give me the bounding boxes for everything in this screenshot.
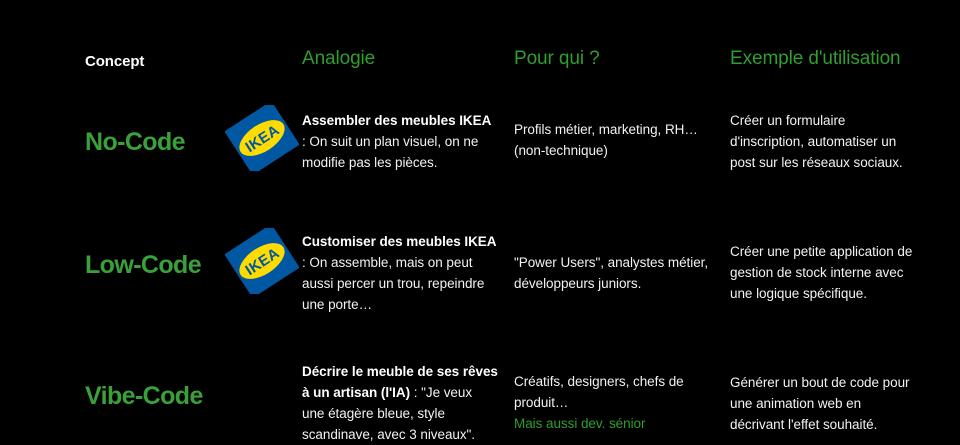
table-row: Low-Code IKEA Customiser des meubles IKE…: [85, 223, 923, 315]
cell-analogie: Customiser des meubles IKEA : On assembl…: [302, 223, 514, 315]
header-cell-analogie: Analogie: [302, 44, 514, 71]
concept-wrapper: Vibe-Code: [85, 354, 302, 438]
pour-qui-main: "Power Users", analystes métier, dévelop…: [514, 255, 708, 291]
pour-qui-text: "Power Users", analystes métier, dévelop…: [514, 223, 730, 294]
analogie-rest: : On assemble, mais on peut aussi percer…: [302, 255, 484, 312]
analogie-rest: : On suit un plan visuel, on ne modifie …: [302, 134, 478, 170]
pour-qui-main: Profils métier, marketing, RH… (non-tech…: [514, 122, 698, 158]
exemple-text: Générer un bout de code pour une animati…: [730, 354, 923, 435]
header-label-concept: Concept: [85, 44, 302, 72]
pour-qui-note: Mais aussi dev. sénior: [514, 413, 710, 434]
header-cell-concept: Concept: [85, 44, 302, 72]
analogie-bold: Customiser des meubles IKEA: [302, 234, 496, 249]
concept-wrapper: Low-Code IKEA: [85, 223, 302, 307]
cell-pour-qui: Profils métier, marketing, RH… (non-tech…: [514, 100, 730, 161]
comparison-grid: Concept Analogie Pour qui ? Exemple d'ut…: [85, 44, 923, 445]
pour-qui-text: Créatifs, designers, chefs de produit…Ma…: [514, 354, 730, 434]
cell-exemple: Créer une petite application de gestion …: [730, 223, 923, 304]
cell-exemple: Générer un bout de code pour une animati…: [730, 354, 923, 435]
header-label-exemple: Exemple d'utilisation: [730, 44, 923, 71]
comparison-board: Concept Analogie Pour qui ? Exemple d'ut…: [0, 0, 960, 442]
exemple-text: Créer un formulaire d'inscription, autom…: [730, 100, 923, 173]
header-label-pour-qui: Pour qui ?: [514, 44, 730, 71]
cell-exemple: Créer un formulaire d'inscription, autom…: [730, 100, 923, 173]
header-cell-pour-qui: Pour qui ?: [514, 44, 730, 71]
concept-wrapper: No-Code IKEA: [85, 100, 302, 184]
table-header-row: Concept Analogie Pour qui ? Exemple d'ut…: [85, 44, 923, 94]
ikea-logo-icon: IKEA: [225, 228, 299, 294]
cell-analogie: Décrire le meuble de ses rêves à un arti…: [302, 354, 514, 445]
cell-pour-qui: "Power Users", analystes métier, dévelop…: [514, 223, 730, 294]
pour-qui-text: Profils métier, marketing, RH… (non-tech…: [514, 100, 730, 161]
cell-concept: Vibe-Code: [85, 354, 302, 438]
table-row: No-Code IKEA Assembler des meubles IKEA …: [85, 100, 923, 184]
cell-pour-qui: Créatifs, designers, chefs de produit…Ma…: [514, 354, 730, 434]
analogie-bold: Assembler des meubles IKEA: [302, 113, 491, 128]
cell-concept: No-Code IKEA: [85, 100, 302, 184]
concept-title: Low-Code: [85, 250, 201, 280]
ikea-logo-icon: IKEA: [225, 105, 299, 171]
header-cell-exemple: Exemple d'utilisation: [730, 44, 923, 71]
analogie-text: Customiser des meubles IKEA : On assembl…: [302, 223, 514, 315]
concept-title: No-Code: [85, 127, 185, 157]
concept-title: Vibe-Code: [85, 381, 203, 411]
analogie-text: Décrire le meuble de ses rêves à un arti…: [302, 354, 514, 445]
table-row: Vibe-Code Décrire le meuble de ses rêves…: [85, 354, 923, 445]
cell-analogie: Assembler des meubles IKEA : On suit un …: [302, 100, 514, 173]
pour-qui-main: Créatifs, designers, chefs de produit…: [514, 374, 684, 410]
cell-concept: Low-Code IKEA: [85, 223, 302, 307]
exemple-text: Créer une petite application de gestion …: [730, 223, 923, 304]
analogie-text: Assembler des meubles IKEA : On suit un …: [302, 100, 514, 173]
header-label-analogie: Analogie: [302, 44, 514, 71]
